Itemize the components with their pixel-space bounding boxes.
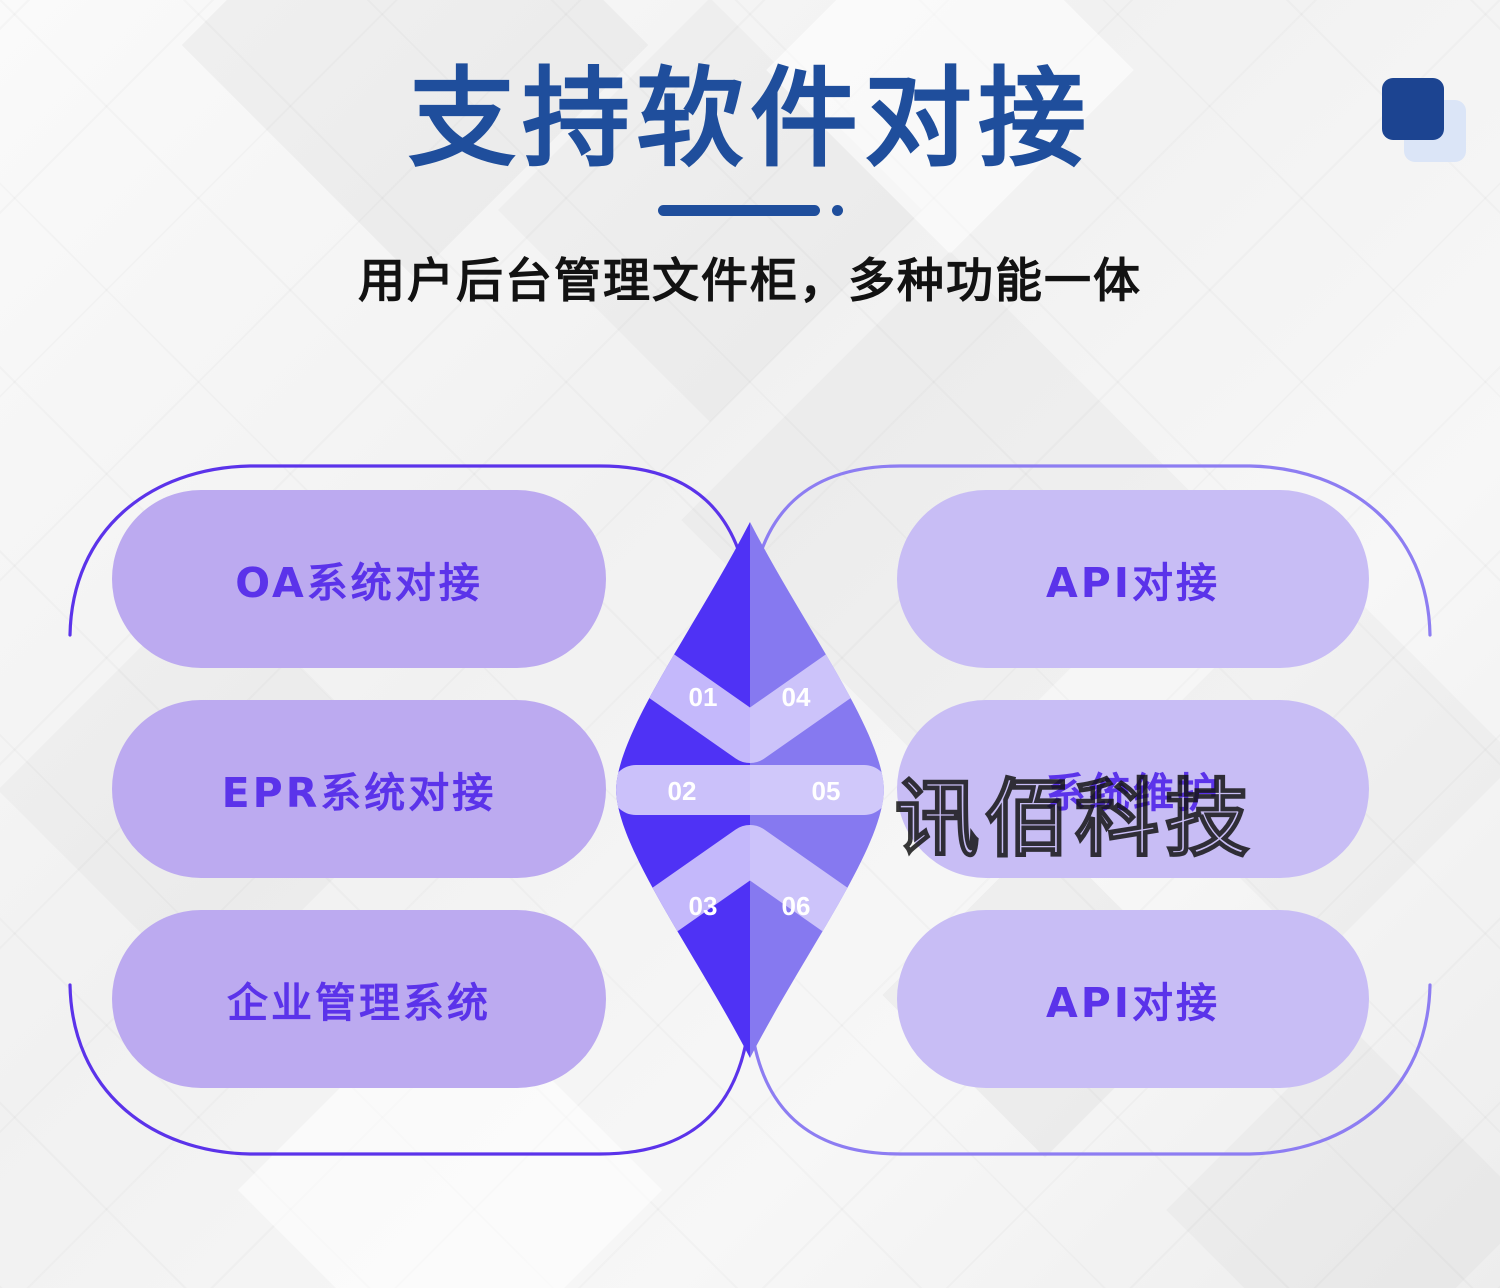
left-item-0[interactable]: OA系统对接 bbox=[112, 490, 606, 668]
logo-mark bbox=[1382, 78, 1466, 162]
badge-label-03: 03 bbox=[689, 891, 718, 921]
right-item-label: 系统维护 bbox=[1045, 759, 1221, 819]
badge-label-04: 04 bbox=[782, 682, 811, 712]
right-item-1[interactable]: 系统维护 bbox=[897, 700, 1369, 878]
right-item-0[interactable]: API对接 bbox=[897, 490, 1369, 668]
right-item-2[interactable]: API对接 bbox=[897, 910, 1369, 1088]
divider-bar bbox=[658, 205, 820, 216]
badge-label-01: 01 bbox=[689, 682, 718, 712]
poster-canvas: 支持软件对接 用户后台管理文件柜，多种功能一体 OA系统对接 EPR系统对接 企… bbox=[0, 0, 1500, 1288]
header-block: 支持软件对接 用户后台管理文件柜，多种功能一体 bbox=[0, 0, 1500, 311]
badge-label-06: 06 bbox=[782, 891, 811, 921]
center-diamond: 01 04 02 05 03 06 bbox=[610, 520, 890, 1060]
divider-dot bbox=[832, 205, 843, 216]
badge-label-02: 02 bbox=[668, 776, 697, 806]
page-title: 支持软件对接 bbox=[0, 0, 1500, 179]
page-subtitle: 用户后台管理文件柜，多种功能一体 bbox=[0, 242, 1500, 311]
left-item-label: EPR系统对接 bbox=[222, 759, 497, 819]
left-item-2[interactable]: 企业管理系统 bbox=[112, 910, 606, 1088]
right-item-label: API对接 bbox=[1046, 969, 1220, 1029]
badge-label-05: 05 bbox=[812, 776, 841, 806]
left-item-label: OA系统对接 bbox=[235, 549, 482, 609]
logo-square-front-icon bbox=[1382, 78, 1444, 140]
title-divider bbox=[0, 205, 1500, 216]
left-item-1[interactable]: EPR系统对接 bbox=[112, 700, 606, 878]
left-item-label: 企业管理系统 bbox=[227, 969, 491, 1029]
right-item-label: API对接 bbox=[1046, 549, 1220, 609]
